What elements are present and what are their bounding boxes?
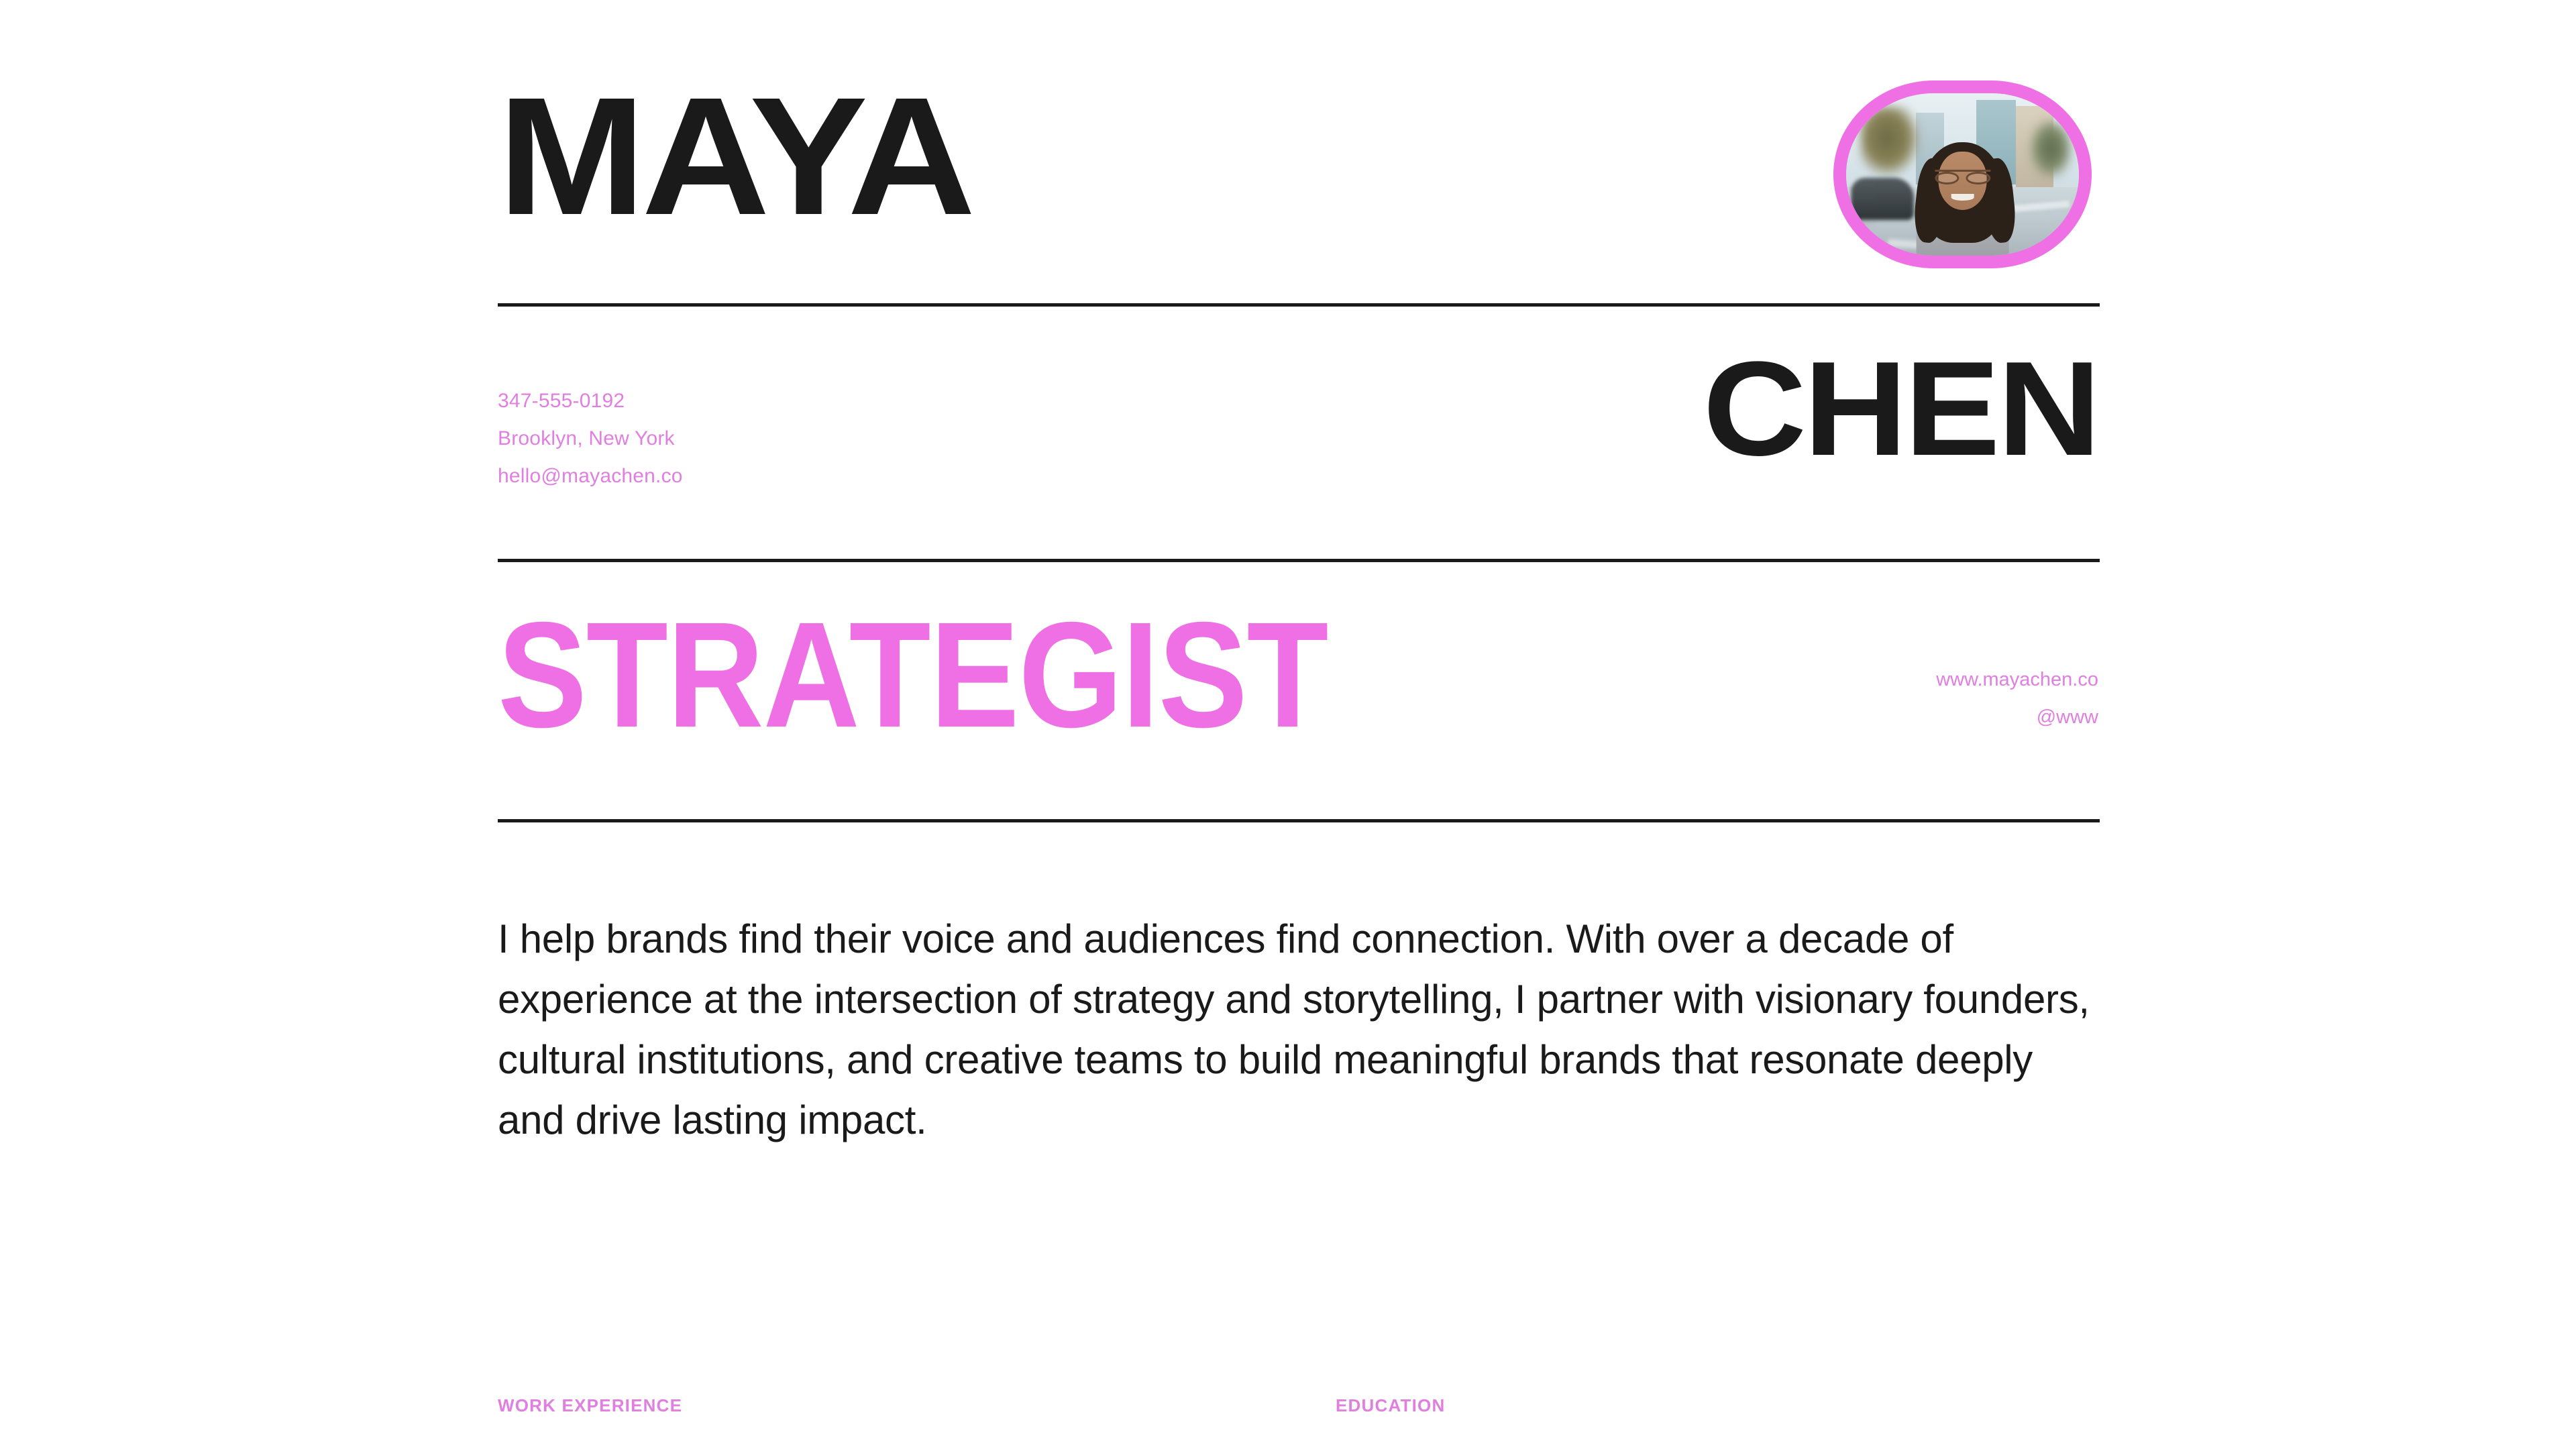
- avatar-photo: [1846, 93, 2079, 256]
- section-label-work-experience: WORK EXPERIENCE: [498, 1395, 682, 1416]
- resume-page: MAYA 347-555-0192: [0, 0, 2576, 1449]
- role-title: STRATEGIST: [498, 600, 1328, 751]
- contact-phone[interactable]: 347-555-0192: [498, 382, 683, 420]
- page-title-last-name: CHEN: [1703, 342, 2098, 476]
- links-block: www.mayachen.co @www: [1936, 661, 2098, 736]
- photo-lens-right: [1966, 172, 1991, 184]
- photo-person-smile: [1951, 194, 1974, 201]
- glasses-icon: [1935, 170, 1990, 184]
- page-title-first-name: MAYA: [498, 72, 971, 240]
- divider-middle: [498, 559, 2100, 562]
- avatar: [1833, 80, 2092, 268]
- divider-top: [498, 303, 2100, 307]
- photo-car-dark: [1851, 178, 1914, 220]
- divider-bottom: [498, 819, 2100, 822]
- bio-paragraph: I help brands find their voice and audie…: [498, 909, 2098, 1150]
- photo-tree-right: [2030, 119, 2072, 178]
- photo-tree-left: [1860, 106, 1921, 177]
- contact-email[interactable]: hello@mayachen.co: [498, 458, 683, 495]
- photo-lens-left: [1935, 172, 1960, 184]
- contact-block: 347-555-0192 Brooklyn, New York hello@ma…: [498, 382, 683, 495]
- section-label-education: EDUCATION: [1336, 1395, 1445, 1416]
- link-website[interactable]: www.mayachen.co: [1936, 661, 2098, 698]
- contact-location: Brooklyn, New York: [498, 420, 683, 458]
- link-social[interactable]: @www: [1936, 698, 2098, 736]
